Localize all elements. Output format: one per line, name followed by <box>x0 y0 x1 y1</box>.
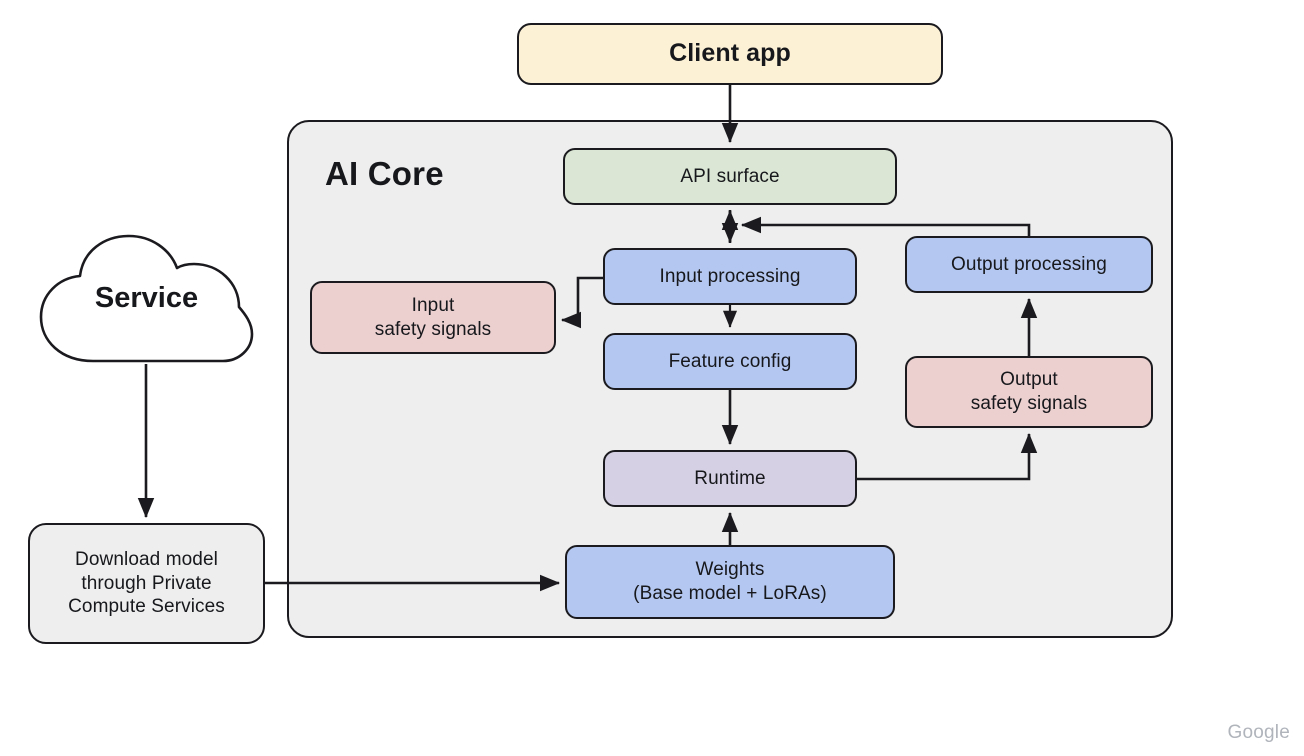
diagram-canvas: AI Core <box>0 0 1304 756</box>
node-input-processing[interactable]: Input processing <box>603 248 857 305</box>
node-output-processing-label: Output processing <box>907 253 1151 277</box>
node-feature-config[interactable]: Feature config <box>603 333 857 390</box>
node-input-safety-signals[interactable]: Input safety signals <box>310 281 556 354</box>
node-api-surface-label: API surface <box>565 165 895 189</box>
node-weights-label: Weights (Base model + LoRAs) <box>567 558 893 606</box>
node-api-surface[interactable]: API surface <box>563 148 897 205</box>
node-input-safety-signals-label: Input safety signals <box>312 294 554 342</box>
node-input-processing-label: Input processing <box>605 265 855 289</box>
google-watermark: Google <box>1228 722 1290 744</box>
node-weights[interactable]: Weights (Base model + LoRAs) <box>565 545 895 619</box>
node-output-safety-signals-label: Output safety signals <box>907 368 1151 416</box>
node-runtime[interactable]: Runtime <box>603 450 857 507</box>
ai-core-title: AI Core <box>325 155 444 193</box>
node-output-processing[interactable]: Output processing <box>905 236 1153 293</box>
node-runtime-label: Runtime <box>605 467 855 491</box>
node-download-model[interactable]: Download model through Private Compute S… <box>28 523 265 644</box>
node-client-app[interactable]: Client app <box>517 23 943 85</box>
service-cloud-shape <box>37 233 256 364</box>
node-client-app-label: Client app <box>519 38 941 69</box>
node-output-safety-signals[interactable]: Output safety signals <box>905 356 1153 428</box>
node-download-model-label: Download model through Private Compute S… <box>30 548 263 619</box>
node-feature-config-label: Feature config <box>605 350 855 374</box>
